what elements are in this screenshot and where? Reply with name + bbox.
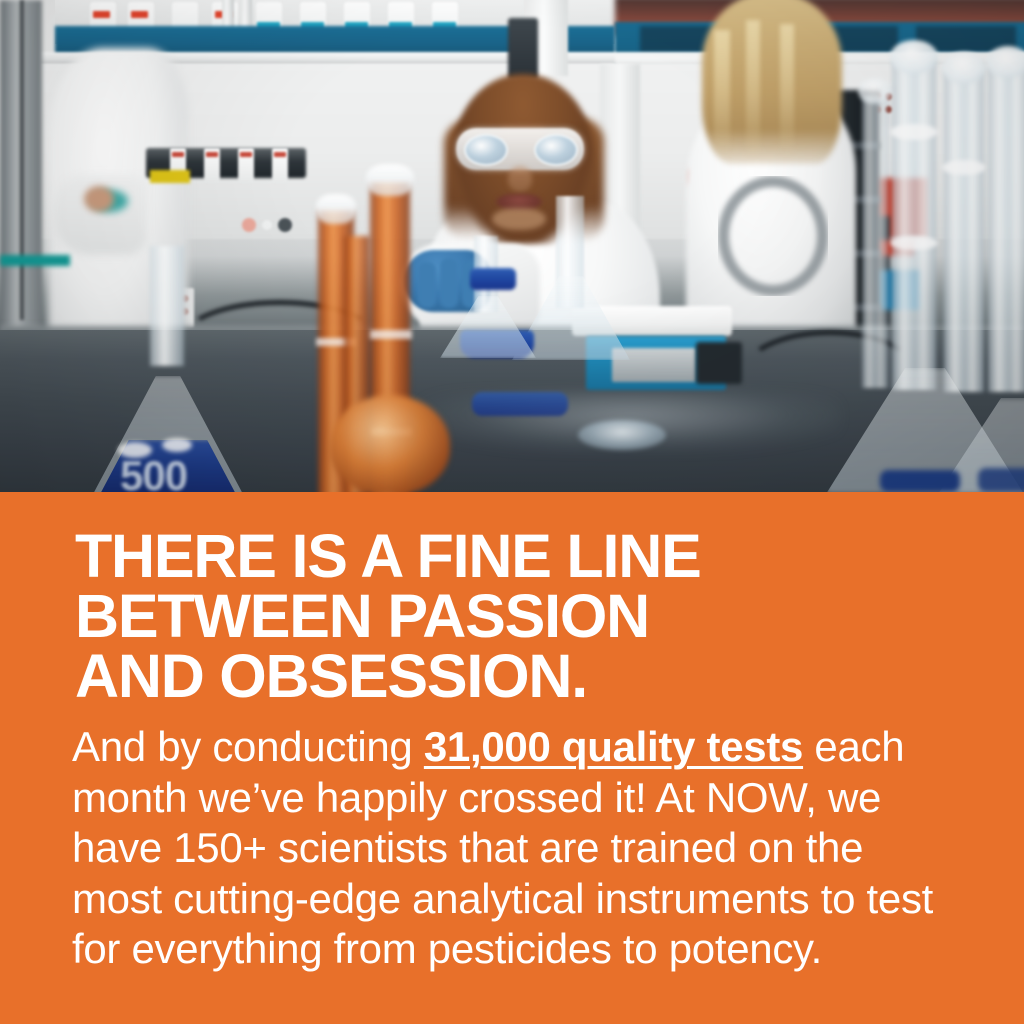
blue-liquid-bottom — [880, 470, 960, 492]
cylinder-stopper — [890, 40, 938, 74]
graduated-cylinder — [988, 66, 1024, 392]
glove-finger — [418, 262, 436, 308]
instrument-knob — [262, 220, 272, 230]
glove-finger — [440, 258, 458, 308]
post-seam — [20, 0, 24, 320]
gray-hose — [718, 176, 828, 296]
left-scientist-hand — [84, 186, 114, 212]
balance-side-panel — [696, 342, 742, 384]
blue-reagent-liquid — [472, 392, 568, 416]
teal-accent-stripe — [0, 255, 70, 266]
graduated-cylinder — [892, 60, 936, 390]
social-graphic-canvas: 500 THERE IS A FINE LINE BETWEEN PASSION… — [0, 0, 1024, 1024]
cylinder-stopper — [986, 46, 1024, 78]
hair-strand — [780, 24, 794, 158]
cylinder-graduation — [942, 160, 986, 175]
headline-line-2: BETWEEN PASSION — [75, 586, 955, 646]
flask-neck — [150, 246, 184, 366]
cylinder-stopper — [942, 52, 986, 84]
laboratory-photo: 500 — [0, 0, 1024, 492]
hair-strand — [714, 30, 730, 160]
chin — [492, 208, 546, 230]
flask-500ml: 500 — [92, 300, 244, 492]
nose — [508, 166, 532, 192]
body-text-before: And by conducting — [72, 723, 424, 770]
column-graduation-ring — [368, 330, 412, 339]
hair-strand — [746, 20, 760, 160]
graduated-cylinder — [862, 96, 888, 388]
watch-glass-dish — [578, 420, 666, 450]
body-paragraph: And by conducting 31,000 quality tests e… — [72, 722, 940, 975]
column-cap — [316, 194, 356, 224]
instrument-knob — [242, 218, 256, 232]
glass-highlight — [162, 438, 192, 452]
blue-reagent-liquid — [470, 268, 516, 290]
cylinder-graduation — [890, 236, 938, 250]
headline-line-3: AND OBSESSION. — [75, 646, 955, 706]
instrument-yellow-label — [150, 170, 190, 183]
headline-line-1: THERE IS A FINE LINE — [75, 526, 955, 586]
quality-tests-emphasis: 31,000 quality tests — [424, 723, 803, 770]
orange-text-panel: THERE IS A FINE LINE BETWEEN PASSION AND… — [0, 492, 1024, 1024]
goggle-lens — [464, 134, 508, 166]
cylinder-stopper — [858, 78, 892, 104]
amber-round-flask — [330, 395, 450, 492]
instrument-knob — [278, 218, 292, 232]
column-cap — [366, 164, 414, 196]
headline: THERE IS A FINE LINE BETWEEN PASSION AND… — [75, 526, 955, 706]
goggle-lens — [534, 134, 578, 166]
blue-liquid-bottom — [978, 468, 1024, 492]
flask-volume-label: 500 — [120, 452, 187, 492]
cylinder-graduation — [890, 124, 938, 140]
wall-mounted-box — [508, 18, 538, 80]
graduated-cylinder — [944, 72, 984, 392]
